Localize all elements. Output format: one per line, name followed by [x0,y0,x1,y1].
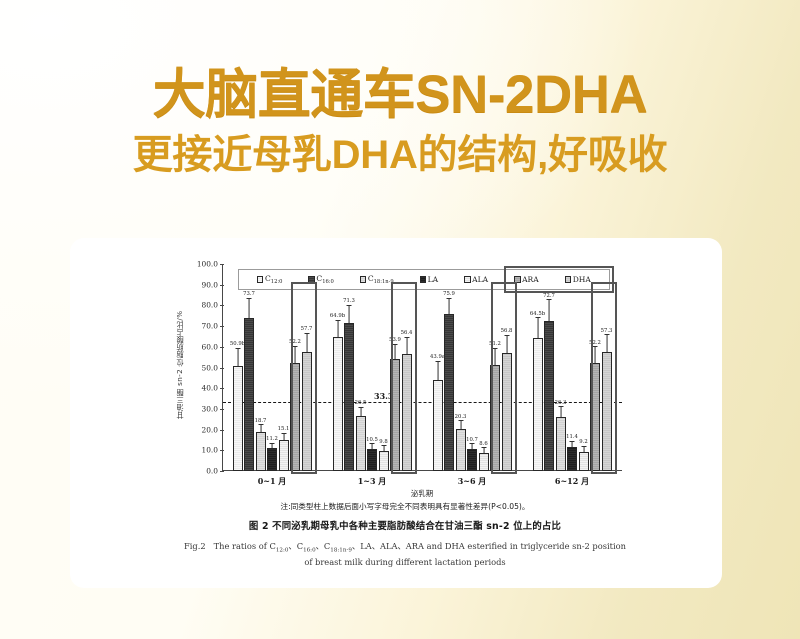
bar [267,448,277,471]
error-bar [295,347,296,363]
bar-value-label: 56.8 [501,328,513,334]
legend-swatch-icon [514,276,521,283]
bar-value-label: 64.5b [530,311,545,317]
error-bar-cap [335,320,340,321]
bar-value-label: 53.9 [389,337,401,343]
bar-group: 50.9b73.718.711.215.152.257.7 [222,264,322,471]
bar [402,354,412,471]
error-bar-cap [470,443,475,444]
bar [456,429,466,471]
figure-caption-cn: 图 2 不同泌乳期母乳中各种主要脂肪酸结合在甘油三酯 sn-2 位上的占比 [175,518,635,532]
bar-slot-c181n-9: 18.7 [256,264,266,471]
bar-slot-ara: 51.2 [490,264,500,471]
y-tick-label: 100.0 [197,260,218,269]
error-bar-cap [347,305,352,306]
bar-value-label: 18.7 [255,418,267,424]
legend-item-ara[interactable]: ARA [514,276,539,284]
y-tick-label: 10.0 [202,446,218,455]
bar-value-label: 72.7 [543,293,555,299]
bar [590,363,600,471]
bar-slot-c120: 64.5b [533,264,543,471]
error-bar [560,407,561,416]
legend-label: C12:0 [265,275,282,283]
error-bar-cap [358,407,363,408]
bar-value-label: 11.2 [266,436,278,442]
y-axis-title: 甘油三酯 sn-2 位脂肪酸占比/% [172,260,188,470]
error-bar [237,349,238,366]
bar-value-label: 64.9b [330,313,345,319]
figure-scan: 甘油三酯 sn-2 位脂肪酸占比/% 100.090.080.070.060.0… [175,252,635,582]
bar-value-label: 9.8 [379,439,387,445]
legend-item-c160[interactable]: C16:0 [308,275,333,283]
error-bar-cap [604,334,609,335]
error-bar-cap [558,406,563,407]
bar [556,417,566,471]
legend-swatch-icon [464,276,471,283]
bar-slot-c181n-9: 20.3 [456,264,466,471]
bar-slot-la: 11.4 [567,264,577,471]
error-bar [495,349,496,365]
error-bar [337,321,338,337]
bar [490,365,500,471]
bar-slot-la: 10.5 [367,264,377,471]
bar-slot-la: 11.2 [267,264,277,471]
x-axis-group-labels: 0~1 月1~3 月3~6 月6~12 月 [222,476,622,487]
bar-group: 43.9a75.920.310.78.651.256.8 [422,264,522,471]
bar [279,440,289,471]
x-group-label: 3~6 月 [422,476,522,487]
error-bar [606,335,607,352]
error-bar [349,305,350,323]
bar [302,352,312,471]
bar-slot-ala: 15.1 [279,264,289,471]
error-bar [449,299,450,314]
legend-item-ala[interactable]: ALA [464,276,488,284]
bar-value-label: 8.6 [479,441,487,447]
error-bar-cap [235,348,240,349]
y-tick-label: 60.0 [202,342,218,351]
error-bar-cap [493,348,498,349]
legend-label: C16:0 [316,275,333,283]
bar-slot-ara: 53.9 [390,264,400,471]
bar-slot-ala: 8.6 [479,264,489,471]
y-tick-label: 90.0 [202,280,218,289]
figure-caption-en-line2: of breast milk during different lactatio… [175,557,635,567]
error-bar [595,347,596,363]
bar [479,453,489,471]
error-bar-cap [581,446,586,447]
bar-slot-c160: 71.3 [344,264,354,471]
legend-label: ARA [522,276,539,284]
legend-label: C18:1n-9 [368,275,394,283]
bar [379,451,389,471]
y-tick-label: 50.0 [202,363,218,372]
bar-value-label: 56.4 [401,330,413,336]
error-bar-cap [593,346,598,347]
bar-slot-c181n-9: 26.3 [556,264,566,471]
bar [367,449,377,471]
bar-slot-dha: 57.3 [602,264,612,471]
y-tick-label: 30.0 [202,404,218,413]
bar-value-label: 71.3 [343,298,355,304]
x-axis-title: 泌乳期 [222,488,622,499]
legend-swatch-icon [360,276,367,283]
bar-slot-c160: 75.9 [444,264,454,471]
bar-slot-ara: 52.2 [590,264,600,471]
bar [544,321,554,471]
bar-slot-dha: 57.7 [302,264,312,471]
bar-value-label: 51.2 [489,341,501,347]
bar [244,318,254,471]
error-bar-cap [535,317,540,318]
bar [233,366,243,471]
error-bar [549,300,550,320]
error-bar-cap [547,299,552,300]
error-bar-cap [447,298,452,299]
bar [502,353,512,471]
bar-value-label: 26.3 [555,400,567,406]
x-group-label: 6~12 月 [522,476,622,487]
legend-swatch-icon [565,276,572,283]
bar-slot-c120: 43.9a [433,264,443,471]
bar [256,432,266,471]
y-axis-ticks: 100.090.080.070.060.050.040.030.020.010.… [187,264,221,471]
x-group-label: 0~1 月 [222,476,322,487]
error-bar-cap [304,333,309,334]
bar [467,449,477,471]
headline-primary: 大脑直通车SN-2DHA [0,68,800,122]
bar [356,416,366,471]
error-bar [260,425,261,432]
bar-groups: 50.9b73.718.711.215.152.257.764.9b71.326… [222,264,622,471]
x-group-label: 1~3 月 [322,476,422,487]
plot-area: 甘油三酯 sn-2 位脂肪酸占比/% 100.090.080.070.060.0… [175,252,635,582]
bar-value-label: 10.7 [466,437,478,443]
bar [444,314,454,471]
legend-item-dha[interactable]: DHA [565,276,591,284]
error-bar-cap [381,445,386,446]
bar-slot-ara: 52.2 [290,264,300,471]
error-bar [395,345,396,359]
bar-value-label: 73.7 [243,291,255,297]
legend-item-c181n-9[interactable]: C18:1n-9 [360,275,394,283]
bar-slot-c181n-9: 26.5 [356,264,366,471]
error-bar-cap [281,433,286,434]
bar-value-label: 52.2 [589,340,601,346]
bar [390,359,400,471]
legend-swatch-icon [257,276,264,283]
legend-label: LA [428,276,439,284]
bar-value-label: 26.5 [355,400,367,406]
y-tick-label: 70.0 [202,322,218,331]
error-bar-cap [404,337,409,338]
bar-value-label: 20.3 [455,414,467,420]
error-bar [406,338,407,355]
error-bar-cap [258,424,263,425]
error-bar [306,334,307,352]
error-bar-cap [458,420,463,421]
bar [533,338,543,472]
legend-item-la[interactable]: LA [420,276,439,284]
bar-slot-la: 10.7 [467,264,477,471]
bar [333,337,343,471]
bar-slot-dha: 56.8 [502,264,512,471]
error-bar-cap [393,344,398,345]
figure-caption-en-line1: Fig.2 The ratios of C12:0、C16:0、C18:1n-9… [127,540,683,554]
y-tick-label: 0.0 [206,467,218,476]
bar [433,380,443,471]
y-tick-mark [220,471,224,472]
legend-label: ALA [472,276,488,284]
error-bar-cap [247,298,252,299]
legend-label: DHA [573,276,591,284]
bar-slot-ala: 9.8 [379,264,389,471]
error-bar-cap [481,447,486,448]
error-bar [460,421,461,429]
bar-slot-c120: 64.9b [333,264,343,471]
headline-block: 大脑直通车SN-2DHA 更接近母乳DHA的结构,好吸收 [0,68,800,176]
legend-item-c120[interactable]: C12:0 [257,275,282,283]
bar-slot-dha: 56.4 [402,264,412,471]
bar-value-label: 9.2 [579,439,587,445]
bar-slot-c120: 50.9b [233,264,243,471]
bar-value-label: 15.1 [278,426,290,432]
bar [290,363,300,471]
bar-value-label: 57.7 [301,326,313,332]
error-bar [437,362,438,380]
promo-page: 大脑直通车SN-2DHA 更接近母乳DHA的结构,好吸收 甘油三酯 sn-2 位… [0,0,800,639]
error-bar-cap [435,361,440,362]
error-bar-cap [270,443,275,444]
bar-value-label: 10.5 [366,437,378,443]
legend-swatch-icon [308,276,315,283]
bar-slot-c160: 73.7 [244,264,254,471]
bar-group: 64.9b71.326.510.59.853.956.4 [322,264,422,471]
bar-slot-c160: 72.7 [544,264,554,471]
y-tick-label: 40.0 [202,384,218,393]
y-tick-label: 80.0 [202,301,218,310]
bar-value-label: 11.4 [566,434,578,440]
y-tick-label: 20.0 [202,425,218,434]
bar-group: 64.5b72.726.311.49.252.257.3 [522,264,622,471]
bar [602,352,612,471]
figure-note: 注:同类型柱上数据后面小写字母完全不同表明具有显著性差异(P<0.05)。 [175,501,635,512]
error-bar-cap [370,443,375,444]
bar-value-label: 43.9a [430,354,445,360]
bar-value-label: 50.9b [230,341,245,347]
bar-value-label: 57.3 [601,328,613,334]
headline-secondary: 更接近母乳DHA的结构,好吸收 [0,134,800,176]
error-bar [249,299,250,319]
bar [579,452,589,471]
error-bar [360,408,361,416]
bar-value-label: 52.2 [289,339,301,345]
figure-card: 甘油三酯 sn-2 位脂肪酸占比/% 100.090.080.070.060.0… [70,238,722,588]
legend-swatch-icon [420,276,427,283]
error-bar [506,336,507,354]
bar-slot-ala: 9.2 [579,264,589,471]
bar [567,447,577,471]
error-bar [537,318,538,337]
error-bar-cap [293,346,298,347]
error-bar-cap [570,441,575,442]
bar-value-label: 75.9 [443,291,455,297]
bar [344,323,354,471]
chart-legend: C12:0C16:0C18:1n-9LAALAARADHA [238,269,610,290]
error-bar-cap [504,335,509,336]
